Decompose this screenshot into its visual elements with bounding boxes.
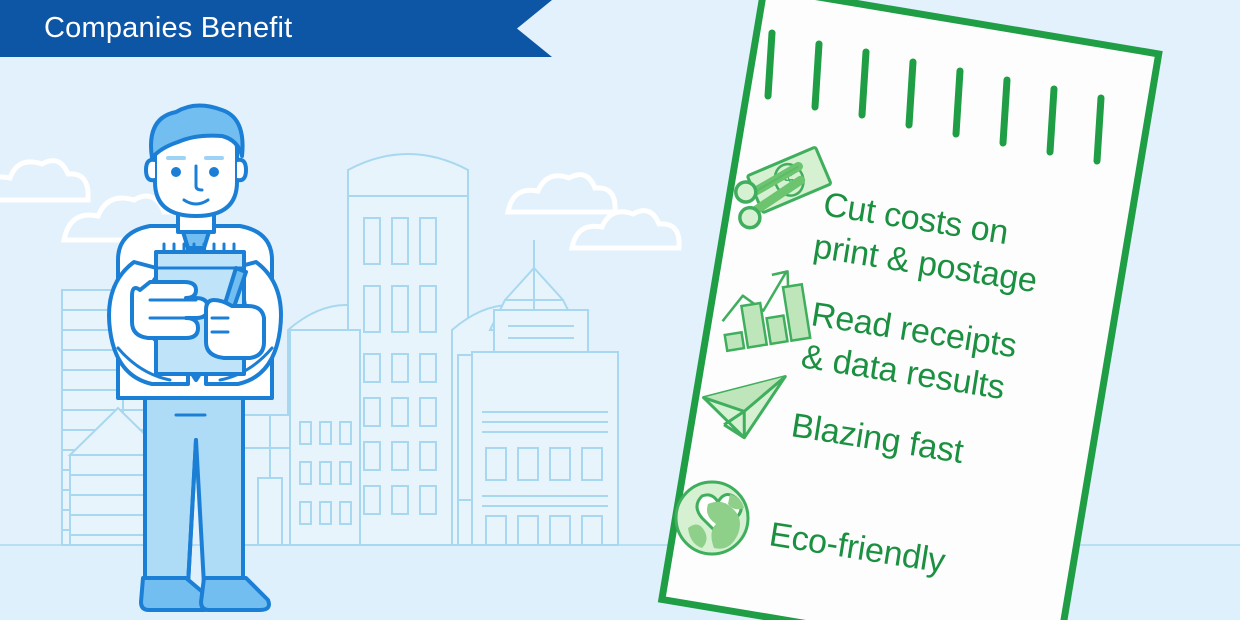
building-dome-center (348, 154, 468, 545)
spiral-ring (815, 44, 819, 107)
globe-heart-icon (676, 482, 748, 554)
character-head (146, 105, 246, 216)
spiral-ring (909, 62, 913, 125)
header-ribbon: Companies Benefit (0, 0, 552, 57)
building-grid-a (290, 330, 360, 545)
spiral-ring (1050, 89, 1054, 152)
character-right-hand (206, 300, 264, 358)
spiral-ring (956, 71, 960, 134)
building-small-mid (244, 415, 296, 545)
character-left-hand (132, 282, 208, 338)
page-title: Companies Benefit (44, 12, 292, 45)
spiral-ring (1097, 98, 1101, 161)
infographic-canvas: Companies Benefit (0, 0, 1240, 620)
building-lined-right (472, 352, 618, 545)
notepad-svg: $ Cut costs on print & postage (600, 0, 1240, 620)
spiral-ring (1003, 80, 1007, 143)
spiral-ring (768, 33, 772, 96)
benefits-notepad: $ Cut costs on print & postage (600, 0, 1240, 620)
character-shoes (141, 578, 269, 610)
spiral-ring (862, 52, 866, 115)
